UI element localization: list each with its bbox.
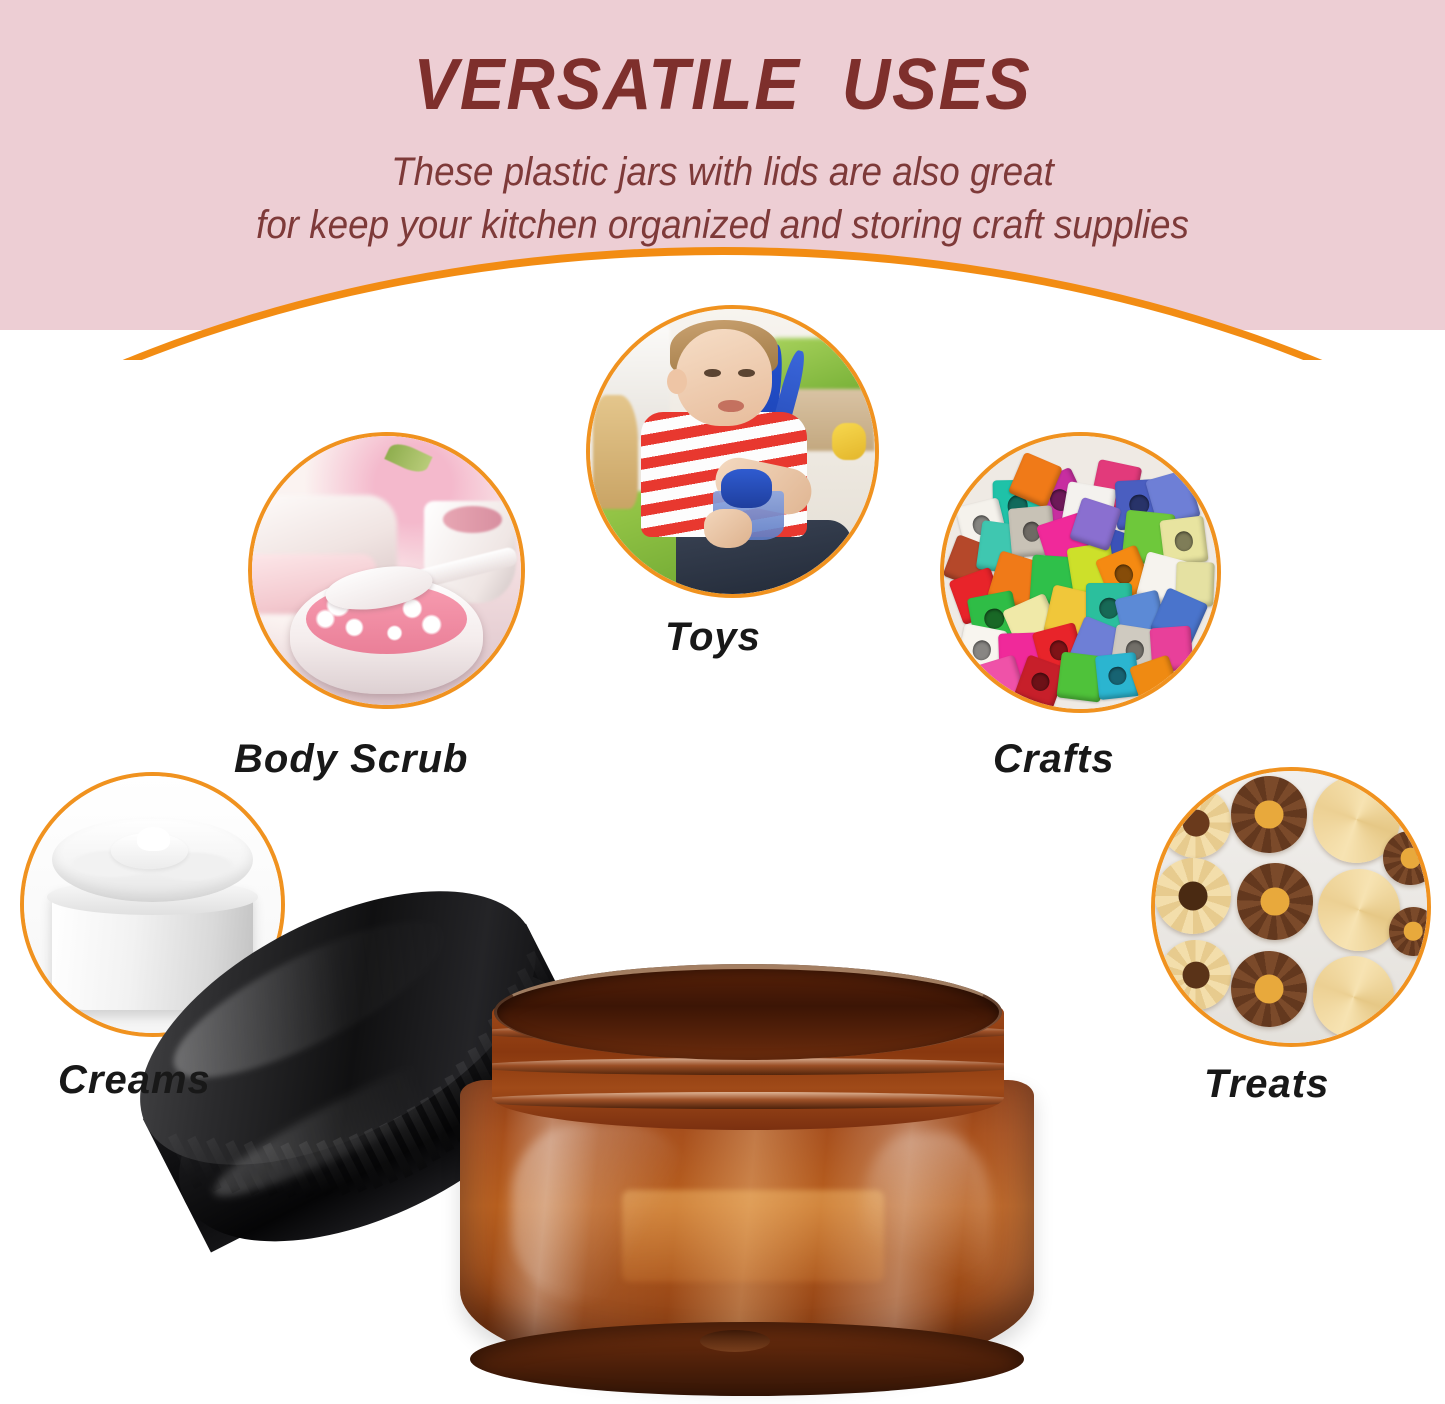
child-ear-shape <box>667 369 687 395</box>
use-label-toys: Toys <box>665 615 761 660</box>
butter-cookie <box>1383 831 1427 885</box>
use-label-crafts: Crafts <box>993 737 1115 782</box>
jar-screw-thread <box>492 1058 1004 1075</box>
use-label-treats: Treats <box>1204 1062 1329 1107</box>
jar-mouth-rim <box>494 964 1002 1060</box>
butter-cookie <box>1160 787 1231 858</box>
yellow-toy-shape <box>832 423 866 460</box>
use-photo-crafts <box>940 432 1221 713</box>
crafts-photo <box>944 436 1217 709</box>
amber-plastic-jar <box>452 962 1042 1380</box>
jar-right-highlight <box>862 1132 992 1332</box>
product-photo <box>0 880 1445 1404</box>
use-photo-toys <box>586 305 879 598</box>
use-photo-body-scrub <box>248 432 525 709</box>
body-scrub-photo <box>252 436 521 705</box>
use-label-body-scrub: Body Scrub <box>234 737 468 782</box>
jar-left-highlight <box>512 1122 692 1302</box>
child-mouth-shape <box>718 400 744 411</box>
cream-peak-shape <box>137 827 170 850</box>
blue-slime-shape <box>721 469 772 509</box>
cookie-center <box>1400 848 1421 869</box>
child-hand-shape <box>704 509 752 549</box>
cup-contents-shape <box>443 506 502 533</box>
butter-cookie <box>1231 776 1307 852</box>
jar-screw-thread <box>492 1092 1004 1109</box>
cookie-center <box>1182 809 1209 836</box>
jar-base-dimple <box>700 1330 770 1352</box>
use-label-creams: Creams <box>58 1058 211 1103</box>
background-child-hair-shape <box>593 395 639 509</box>
toys-photo <box>590 309 875 594</box>
cookie-center <box>1255 800 1284 829</box>
